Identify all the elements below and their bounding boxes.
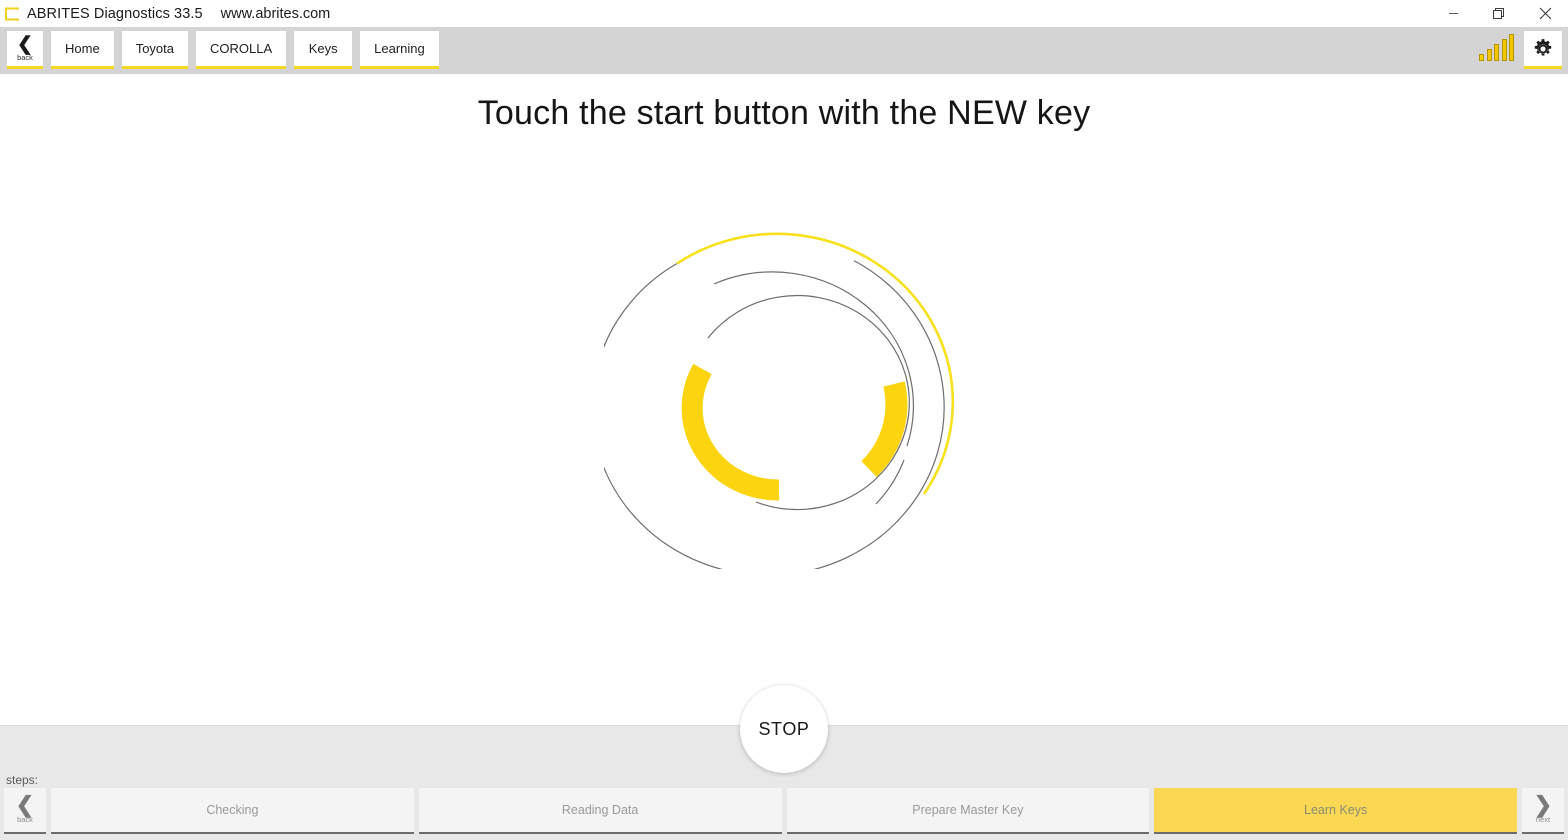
breadcrumb-label: Toyota (136, 41, 174, 56)
breadcrumb-label: Keys (309, 41, 338, 56)
signal-strength-icon (1479, 31, 1514, 69)
breadcrumb-label: COROLLA (210, 41, 272, 56)
breadcrumb-item-keys[interactable]: Keys (294, 31, 352, 69)
minimize-icon[interactable] (1430, 0, 1476, 27)
page-title: Touch the start button with the NEW key (0, 94, 1568, 133)
breadcrumb-item-home[interactable]: Home (51, 31, 114, 69)
restore-icon[interactable] (1476, 0, 1522, 27)
breadcrumb-label: Learning (374, 41, 425, 56)
chevron-left-icon: ❮ (16, 796, 34, 814)
step-label: Reading Data (562, 803, 638, 817)
breadcrumb-item-learning[interactable]: Learning (360, 31, 439, 69)
gear-icon[interactable] (1524, 31, 1562, 69)
steps-label: steps: (6, 773, 38, 787)
breadcrumb-back-button[interactable]: ❮ back (7, 31, 43, 69)
step-label: Learn Keys (1304, 803, 1367, 817)
step-label: Checking (206, 803, 258, 817)
close-icon[interactable] (1522, 0, 1568, 27)
loading-spinner-icon (604, 224, 964, 569)
step-label: Prepare Master Key (912, 803, 1023, 817)
steps-next-button[interactable]: ❯ next (1522, 788, 1564, 834)
app-title: ABRITES Diagnostics 33.5 (27, 6, 203, 22)
stop-button-label: STOP (758, 719, 809, 740)
steps-next-label: next (1536, 816, 1550, 824)
steps-back-button[interactable]: ❮ back (4, 788, 46, 834)
toolbar-right-group (1479, 31, 1568, 74)
app-website: www.abrites.com (221, 6, 331, 22)
step-checking[interactable]: Checking (51, 788, 414, 834)
breadcrumb-back-label: back (17, 54, 33, 62)
breadcrumb-toolbar: ❮ back Home Toyota COROLLA Keys Learning (0, 27, 1568, 74)
steps-row: ❮ back Checking Reading Data Prepare Mas… (0, 788, 1568, 834)
steps-back-label: back (17, 816, 33, 824)
step-prepare-master-key[interactable]: Prepare Master Key (787, 788, 1150, 834)
breadcrumb-label: Home (65, 41, 100, 56)
chevron-left-icon: ❮ (17, 37, 33, 53)
step-learn-keys[interactable]: Learn Keys (1154, 788, 1517, 834)
title-bar: ABRITES Diagnostics 33.5 www.abrites.com (0, 0, 1568, 27)
breadcrumb-item-corolla[interactable]: COROLLA (196, 31, 286, 69)
stop-button[interactable]: STOP (740, 685, 828, 773)
main-content: Touch the start button with the NEW key (0, 74, 1568, 725)
window-controls (1430, 0, 1568, 27)
chevron-right-icon: ❯ (1534, 796, 1552, 814)
abrites-logo-icon (3, 7, 23, 21)
step-reading-data[interactable]: Reading Data (419, 788, 782, 834)
breadcrumb-item-toyota[interactable]: Toyota (122, 31, 188, 69)
